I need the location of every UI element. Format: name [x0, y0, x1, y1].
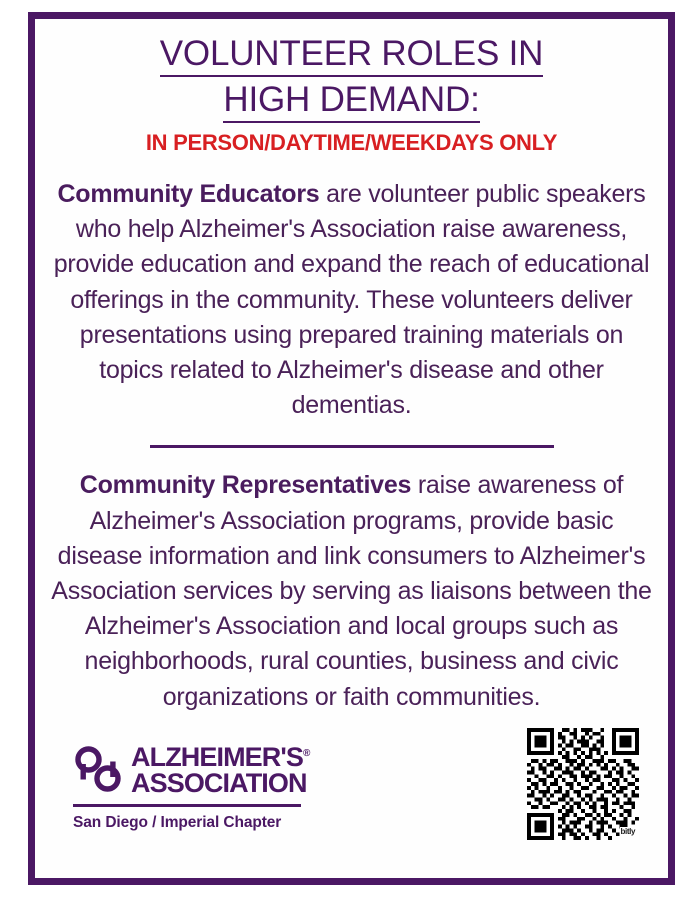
- page-title-line-2: HIGH DEMAND:: [49, 77, 654, 123]
- heading-block: VOLUNTEER ROLES IN HIGH DEMAND: IN PERSO…: [49, 19, 654, 156]
- page-title-line-2-text: HIGH DEMAND:: [223, 80, 479, 123]
- alzheimers-association-mark-icon: [73, 745, 125, 797]
- logo-wordmark: ALZHEIMER'S® ASSOCIATION: [131, 744, 310, 796]
- section-body-community-educators: are volunteer public speakers who help A…: [54, 180, 650, 419]
- page-subtitle: IN PERSON/DAYTIME/WEEKDAYS ONLY: [49, 130, 654, 156]
- logo-word-association: ASSOCIATION: [131, 771, 310, 797]
- logo-chapter-name: San Diego / Imperial Chapter: [73, 814, 333, 832]
- section-divider-wrap: [49, 444, 654, 448]
- registered-trademark-icon: ®: [303, 748, 310, 759]
- section-community-representatives: Community Representatives raise awarenes…: [49, 468, 654, 714]
- footer: ALZHEIMER'S® ASSOCIATION San Diego / Imp…: [35, 736, 668, 878]
- flyer-card: VOLUNTEER ROLES IN HIGH DEMAND: IN PERSO…: [28, 12, 675, 885]
- page-title-line-1-text: VOLUNTEER ROLES IN: [160, 34, 543, 77]
- qr-code[interactable]: bitly: [527, 728, 639, 840]
- section-lead-community-educators: Community Educators: [58, 180, 320, 208]
- logo-top-row: ALZHEIMER'S® ASSOCIATION: [73, 744, 333, 797]
- section-body-community-representatives: raise awareness of Alzheimer's Associati…: [51, 471, 651, 710]
- logo-word-alzheimers: ALZHEIMER'S®: [131, 745, 310, 771]
- qr-brand-label: bitly: [620, 827, 636, 836]
- page-title-line-1: VOLUNTEER ROLES IN: [49, 31, 654, 77]
- logo-divider: [73, 804, 301, 807]
- section-community-educators: Community Educators are volunteer public…: [49, 177, 654, 423]
- section-divider: [150, 445, 554, 448]
- alzheimers-association-logo: ALZHEIMER'S® ASSOCIATION San Diego / Imp…: [73, 744, 333, 832]
- section-lead-community-representatives: Community Representatives: [80, 471, 411, 499]
- flyer-content: VOLUNTEER ROLES IN HIGH DEMAND: IN PERSO…: [35, 19, 668, 878]
